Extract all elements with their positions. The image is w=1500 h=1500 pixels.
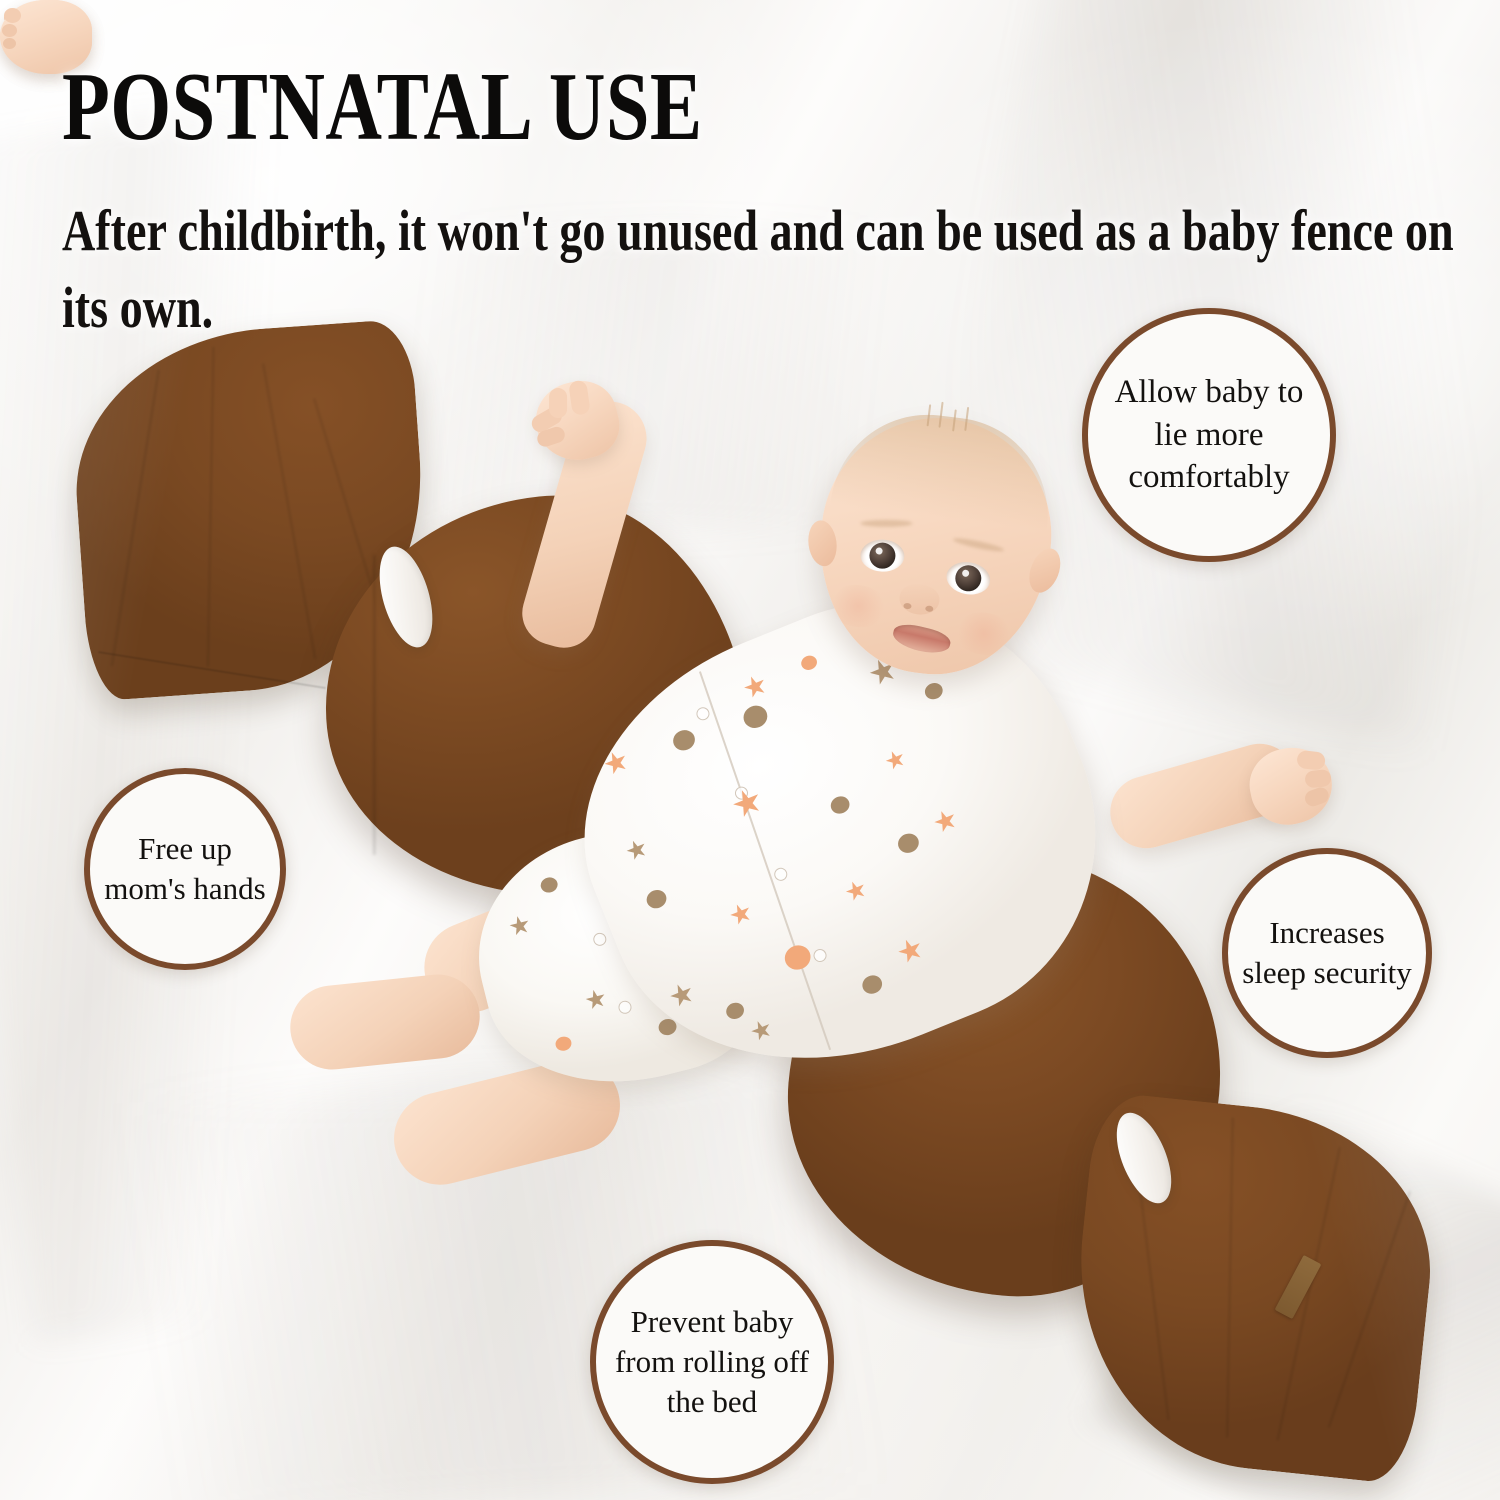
callout-sleep-security-label: Increases sleep security: [1228, 913, 1426, 994]
callout-free-hands: Free up mom's hands: [84, 768, 286, 970]
page-title: POSTNATAL USE: [62, 58, 703, 156]
baby-eye-right: [944, 559, 993, 598]
baby-nose: [898, 582, 941, 617]
callout-prevent-rolling-label: Prevent baby from rolling off the bed: [596, 1302, 828, 1423]
baby-mouth: [891, 621, 953, 657]
baby-eye-left: [860, 539, 905, 573]
callout-free-hands-label: Free up mom's hands: [90, 829, 280, 910]
product-image-canvas: NTSQJOSLIN: [0, 0, 1500, 1500]
callout-sleep-security: Increases sleep security: [1222, 848, 1432, 1058]
callout-prevent-rolling: Prevent baby from rolling off the bed: [590, 1240, 834, 1484]
callout-allow-baby-label: Allow baby to lie more comfortably: [1088, 371, 1330, 500]
callout-allow-baby: Allow baby to lie more comfortably: [1082, 308, 1336, 562]
